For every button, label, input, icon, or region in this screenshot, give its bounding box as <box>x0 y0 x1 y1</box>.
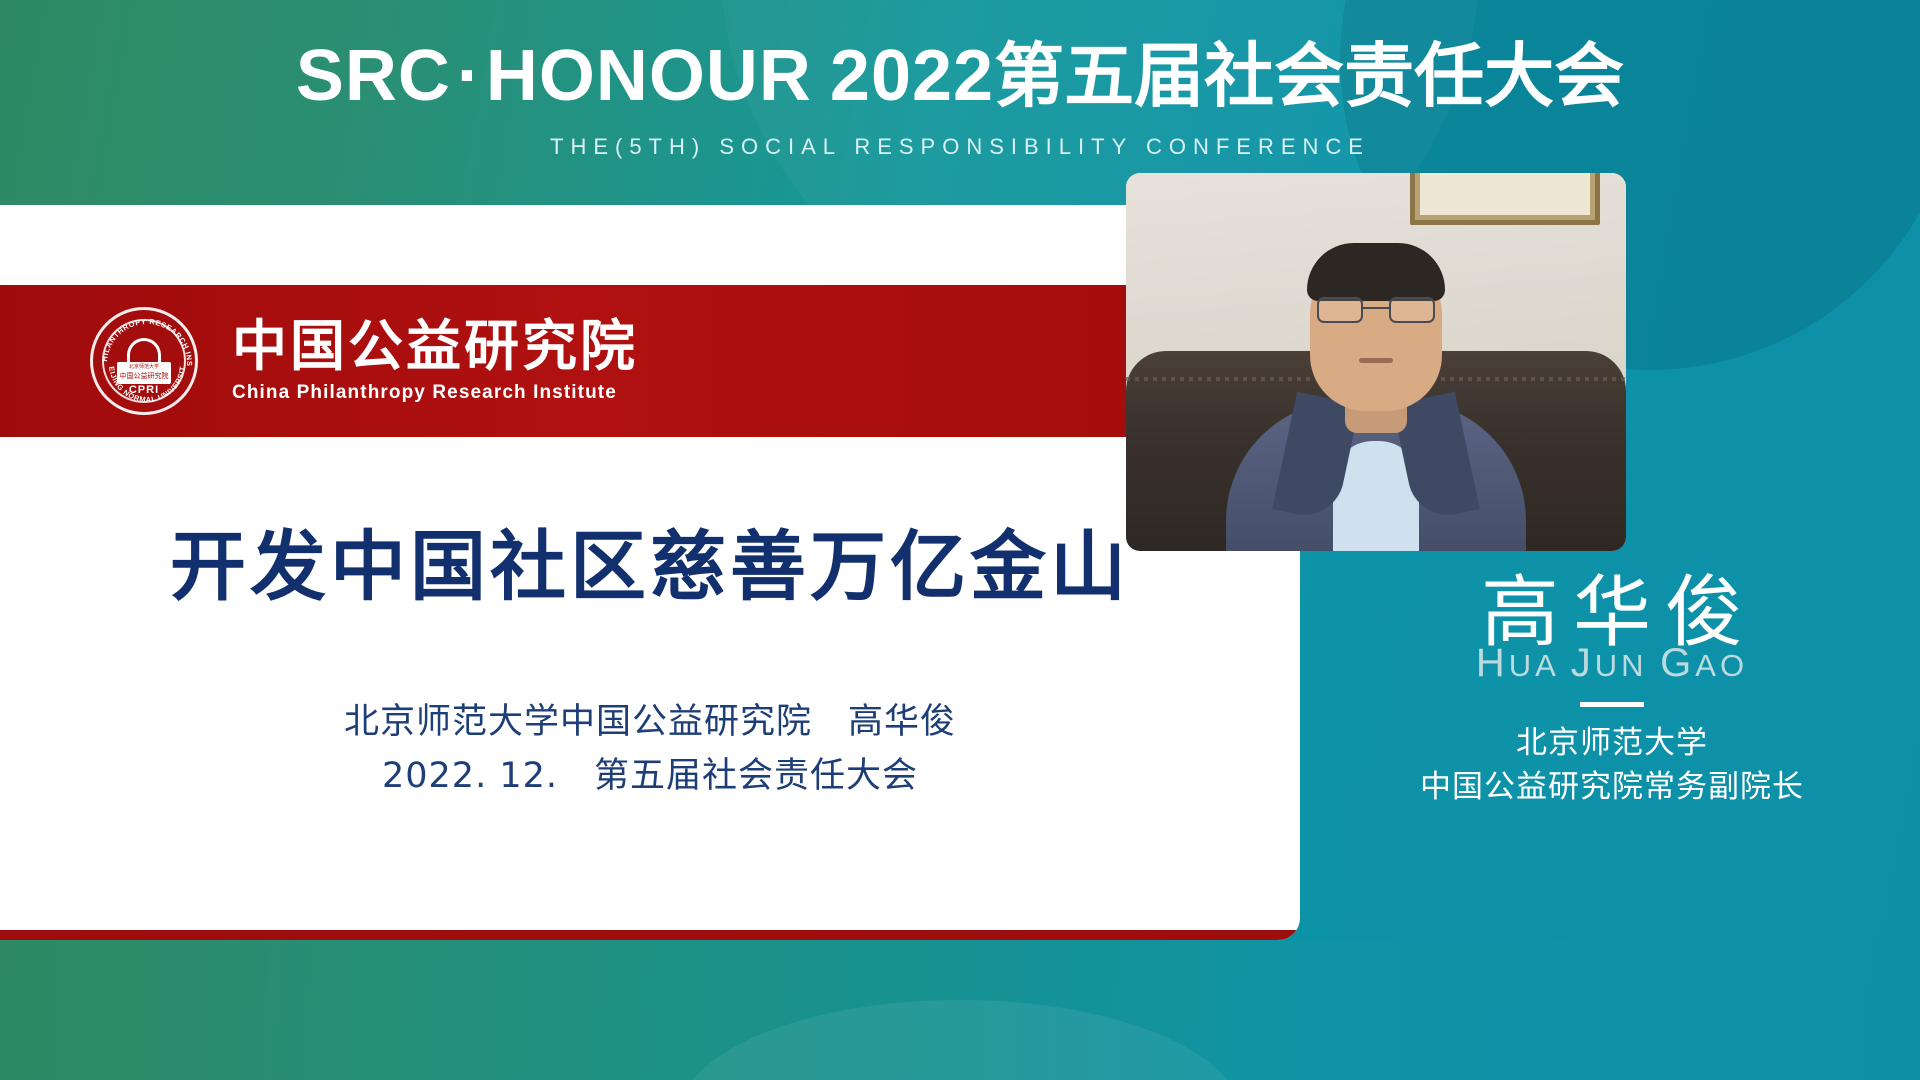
seal-gate-small-text: 北京师范大学 <box>129 365 159 370</box>
speaker-org-line-1: 北京师范大学 <box>1352 721 1872 765</box>
speaker-divider <box>1580 702 1644 707</box>
conference-subtitle: THE(5TH) SOCIAL RESPONSIBILITY CONFERENC… <box>550 134 1370 160</box>
presentation-stage: SRC · HONOUR 2022 第五届社会责任大会 THE(5TH) SOC… <box>0 0 1920 1080</box>
speaker-identity: 高华俊 HUA JUN GAO 北京师范大学 中国公益研究院常务副院长 <box>1352 573 1872 809</box>
slide-main-title: 开发中国社区慈善万亿金山 <box>0 505 1300 615</box>
speaker-mouth <box>1359 358 1393 363</box>
seal-plaque: 北京师范大学 中国公益研究院 <box>117 362 171 384</box>
cpri-name-chinese: 中国公益研究院 <box>232 318 638 376</box>
conference-title-year: 2022 <box>812 40 994 112</box>
speaker-hair <box>1307 243 1445 301</box>
speaker-name-en-un: UN <box>1595 648 1660 683</box>
slide-date-line: 2022. 12. 第五届社会责任大会 <box>0 749 1300 803</box>
seal-arch-shape <box>127 338 161 364</box>
speaker-name-en-g: G <box>1660 641 1695 685</box>
conference-banner: SRC · HONOUR 2022 第五届社会责任大会 THE(5TH) SOC… <box>0 0 1920 205</box>
cpri-logo-text: 中国公益研究院 China Philanthropy Research Inst… <box>232 318 638 404</box>
glasses-icon <box>1317 297 1435 323</box>
seal-gate-label: 中国公益研究院 <box>120 372 169 380</box>
bottom-decorative-blob <box>680 1000 1240 1080</box>
slide-logo-band: CHINA PHILANTHROPY RESEARCH INSTITUTE BE… <box>0 285 1300 437</box>
bottom-band <box>0 940 1920 1080</box>
conference-title-src: SRC <box>296 40 451 112</box>
speaker-name-en-ao: AO <box>1695 648 1748 683</box>
conference-title: SRC · HONOUR 2022 第五届社会责任大会 <box>296 40 1624 112</box>
speaker-video-thumbnail[interactable] <box>1126 173 1626 551</box>
speaker-figure <box>1226 291 1526 551</box>
seal-abbreviation: CPRI <box>93 384 195 396</box>
speaker-organization: 北京师范大学 中国公益研究院常务副院长 <box>1352 721 1872 809</box>
seal-gate-icon: 北京师范大学 中国公益研究院 <box>115 338 173 388</box>
conference-title-honour: HONOUR <box>486 40 812 112</box>
speaker-name-en-h: H <box>1476 641 1509 685</box>
cpri-seal-icon: CHINA PHILANTHROPY RESEARCH INSTITUTE BE… <box>90 307 198 415</box>
speaker-name-en-j: J <box>1571 641 1595 685</box>
slide-footer-accent <box>0 930 1300 940</box>
speaker-org-line-2: 中国公益研究院常务副院长 <box>1352 765 1872 809</box>
slide-card: CHINA PHILANTHROPY RESEARCH INSTITUTE BE… <box>0 205 1300 940</box>
conference-title-separator: · <box>451 40 486 112</box>
glasses-lens-right <box>1389 297 1435 323</box>
speaker-rail: 高华俊 HUA JUN GAO 北京师范大学 中国公益研究院常务副院长 <box>1300 205 1920 940</box>
cpri-logo: CHINA PHILANTHROPY RESEARCH INSTITUTE BE… <box>90 307 638 415</box>
slide-metadata: 北京师范大学中国公益研究院 高华俊 2022. 12. 第五届社会责任大会 <box>0 695 1300 804</box>
speaker-name-english: HUA JUN GAO <box>1352 641 1872 686</box>
glasses-lens-left <box>1317 297 1363 323</box>
cpri-name-english: China Philanthropy Research Institute <box>232 382 638 404</box>
slide-author-line: 北京师范大学中国公益研究院 高华俊 <box>0 695 1300 749</box>
speaker-name-en-ua: UA <box>1509 648 1571 683</box>
conference-title-chinese: 第五届社会责任大会 <box>994 41 1624 111</box>
glasses-bridge <box>1363 307 1389 309</box>
